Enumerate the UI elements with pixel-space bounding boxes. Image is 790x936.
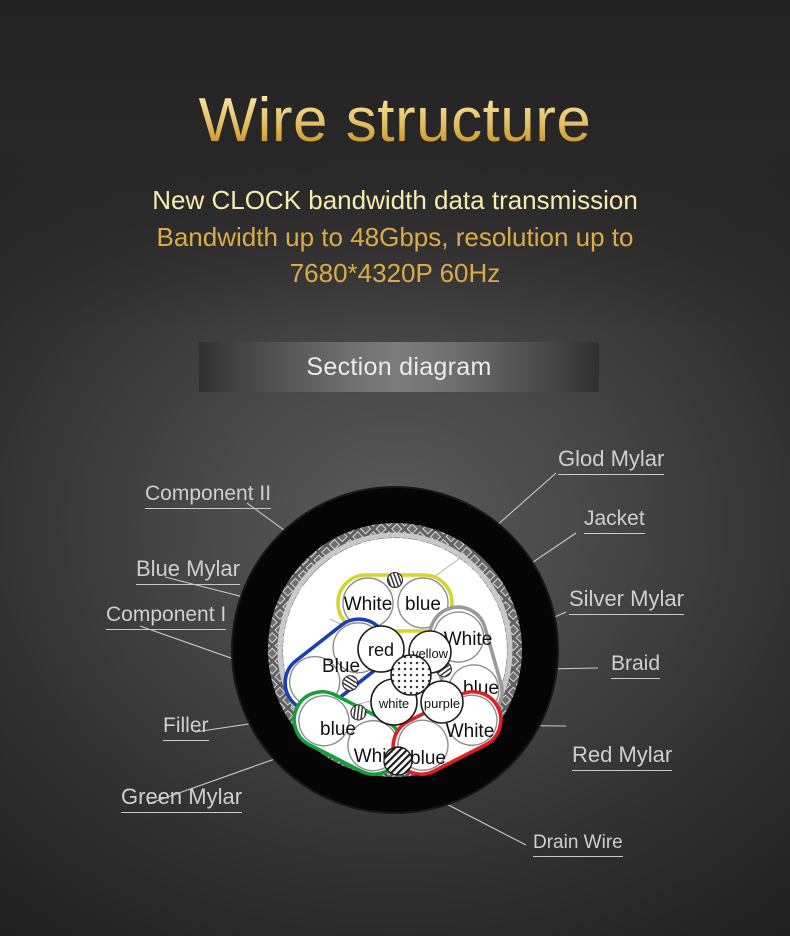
callout-component-ii-text: Component II (145, 482, 271, 505)
callout-filler: Filler (163, 715, 209, 741)
callout-silver-mylar-text: Silver Mylar (569, 586, 684, 611)
cross-section-diagram: White blue Blue White White blue blue (0, 420, 790, 880)
drain-wire-main (384, 747, 412, 775)
svg-text:blue: blue (320, 719, 356, 740)
center-filler (391, 655, 431, 695)
callout-green-mylar: Green Mylar (121, 786, 242, 813)
svg-text:blue: blue (410, 748, 446, 769)
svg-text:White: White (446, 721, 495, 742)
svg-text:purple: purple (424, 696, 460, 711)
callout-filler-text: Filler (163, 714, 209, 737)
callout-drain-wire-text: Drain Wire (533, 832, 623, 853)
callout-component-i-text: Component I (106, 603, 226, 626)
svg-text:white: white (378, 696, 409, 711)
subtitle-line-2: Bandwidth up to 48Gbps, resolution up to (0, 219, 790, 255)
svg-text:White: White (344, 594, 393, 615)
callout-glod-mylar: Glod Mylar (558, 448, 664, 475)
callout-blue-mylar: Blue Mylar (136, 558, 240, 585)
callout-glod-mylar-text: Glod Mylar (558, 446, 664, 471)
callout-drain-wire: Drain Wire (533, 833, 623, 857)
callout-blue-mylar-text: Blue Mylar (136, 556, 240, 581)
callout-component-i: Component I (106, 604, 226, 630)
section-diagram-banner: Section diagram (199, 342, 599, 392)
callout-braid: Braid (611, 653, 660, 679)
callout-braid-text: Braid (611, 652, 660, 675)
callout-red-mylar: Red Mylar (572, 744, 672, 771)
page-title: Wire structure (0, 88, 790, 153)
callout-silver-mylar: Silver Mylar (569, 588, 684, 615)
callout-red-mylar-text: Red Mylar (572, 742, 672, 767)
page-root: Wire structure New CLOCK bandwidth data … (0, 0, 790, 936)
callout-component-ii: Component II (145, 483, 271, 509)
subtitle-line-3: 7680*4320P 60Hz (0, 255, 790, 291)
subtitle-line-1: New CLOCK bandwidth data transmission (0, 182, 790, 218)
svg-text:red: red (368, 640, 394, 660)
drain-wire-dot (388, 573, 403, 588)
section-diagram-label: Section diagram (199, 342, 599, 392)
svg-text:Blue: Blue (322, 656, 360, 677)
callout-green-mylar-text: Green Mylar (121, 784, 242, 809)
svg-text:blue: blue (405, 594, 441, 615)
callout-jacket-text: Jacket (584, 507, 645, 530)
callout-jacket: Jacket (584, 508, 645, 534)
